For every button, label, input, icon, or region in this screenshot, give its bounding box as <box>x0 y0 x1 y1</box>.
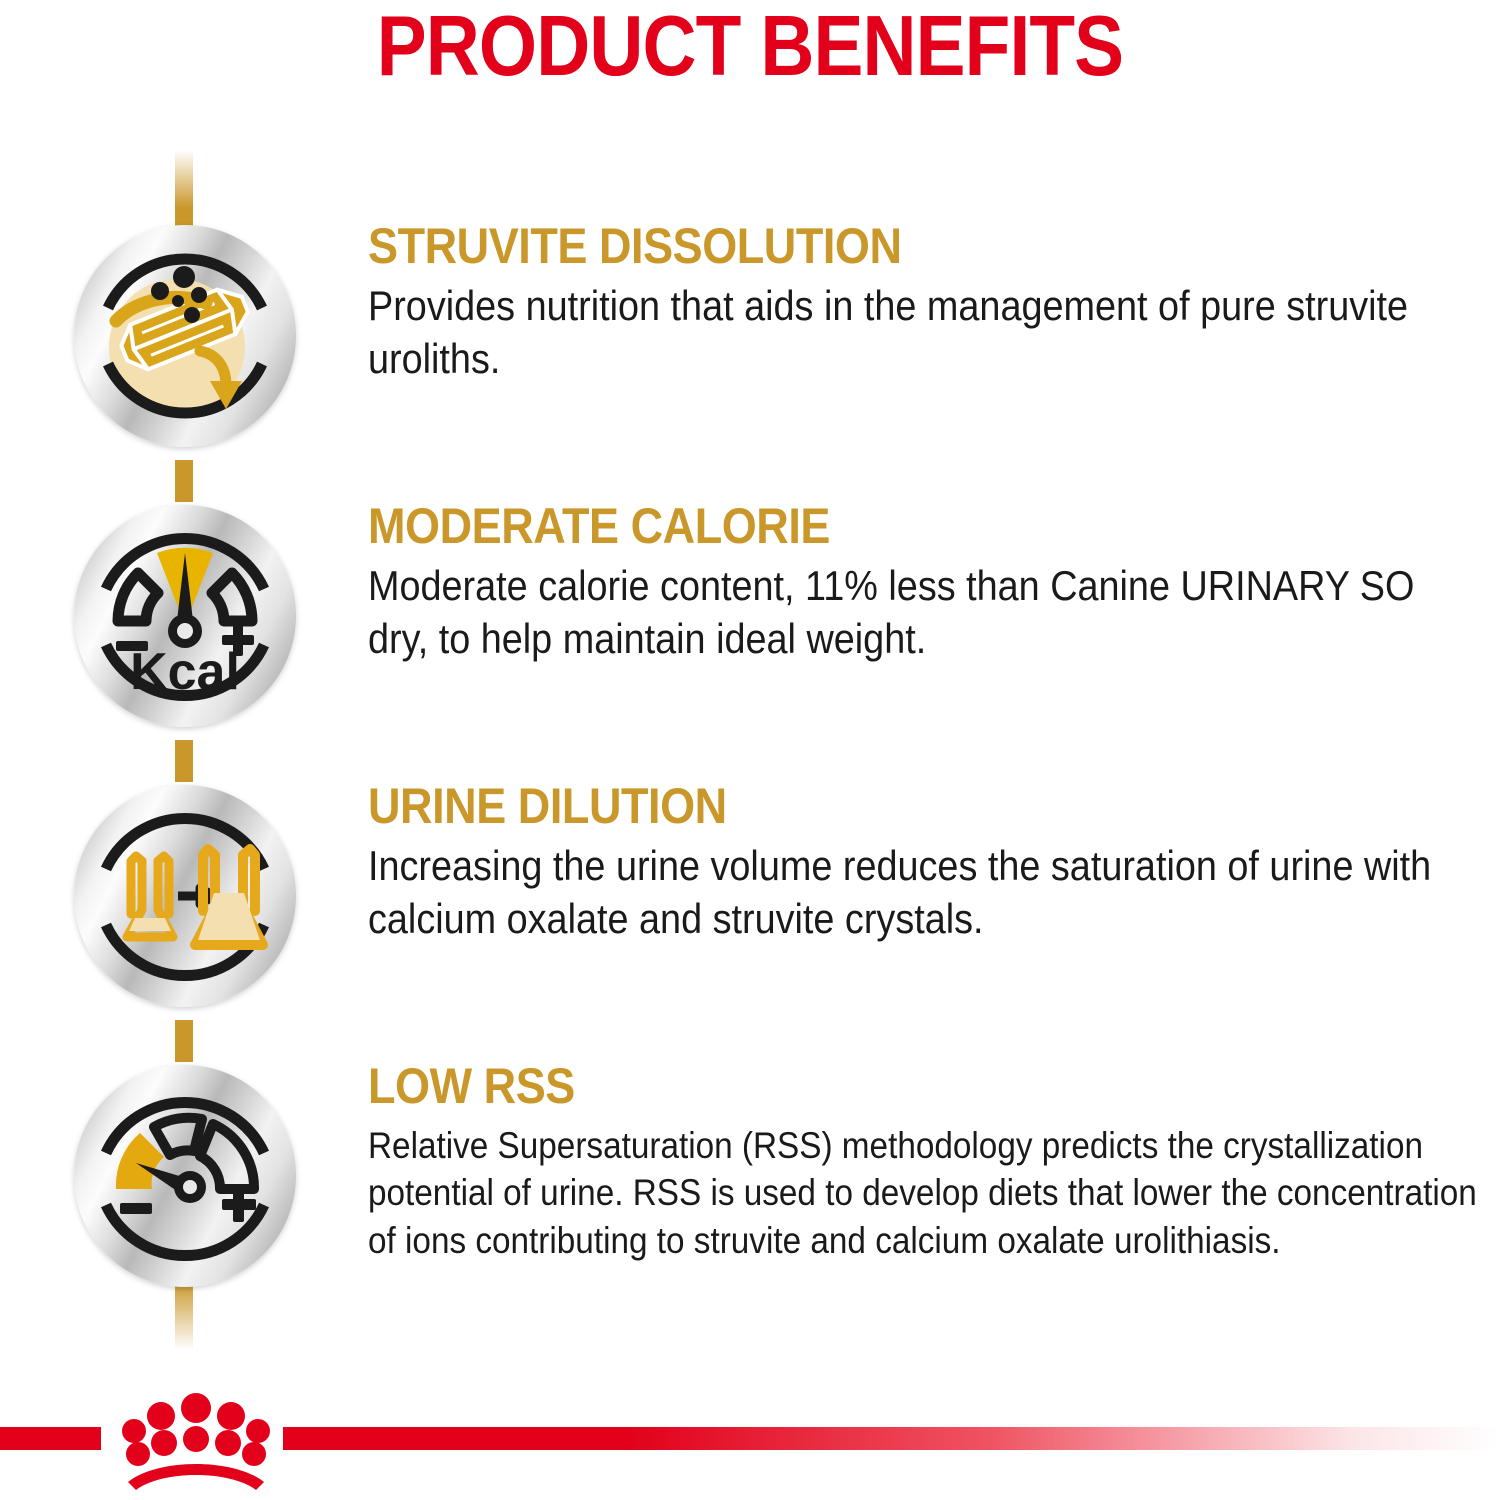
benefit-title: MODERATE CALORIE <box>368 500 1376 552</box>
benefit-body: Provides nutrition that aids in the mana… <box>368 280 1484 386</box>
benefit-item-struvite-dissolution: STRUVITE DISSOLUTION Provides nutrition … <box>0 220 1500 500</box>
struvite-dissolution-icon <box>74 225 296 447</box>
urine-dilution-flasks-icon <box>74 785 296 1007</box>
royal-canin-crown-logo <box>106 1386 286 1494</box>
low-rss-gauge-icon <box>74 1065 296 1287</box>
benefit-body: Relative Supersaturation (RSS) methodolo… <box>368 1122 1500 1264</box>
svg-text:Kcal: Kcal <box>130 643 240 701</box>
benefit-body: Increasing the urine volume reduces the … <box>368 840 1484 946</box>
footer-bar-right <box>283 1427 1500 1450</box>
benefit-item-low-rss: LOW RSS Relative Supersaturation (RSS) m… <box>0 1060 1500 1340</box>
benefits-list: STRUVITE DISSOLUTION Provides nutrition … <box>0 150 1500 1350</box>
benefit-text-struvite-dissolution: STRUVITE DISSOLUTION Provides nutrition … <box>368 220 1488 386</box>
benefit-text-moderate-calorie: MODERATE CALORIE Moderate calorie conten… <box>368 500 1488 666</box>
benefit-title: STRUVITE DISSOLUTION <box>368 220 1376 272</box>
benefit-item-moderate-calorie: Kcal MODERATE CALORIE Moderate calorie c… <box>0 500 1500 780</box>
benefit-body: Moderate calorie content, 11% less than … <box>368 560 1484 666</box>
benefit-title: URINE DILUTION <box>368 780 1376 832</box>
benefit-item-urine-dilution: URINE DILUTION Increasing the urine volu… <box>0 780 1500 1060</box>
benefit-text-urine-dilution: URINE DILUTION Increasing the urine volu… <box>368 780 1488 946</box>
page-title: PRODUCT BENEFITS <box>90 4 1410 89</box>
benefit-title: LOW RSS <box>368 1060 1376 1112</box>
connector-segment-top <box>175 150 193 228</box>
footer <box>0 1380 1500 1500</box>
footer-bar-left <box>0 1427 101 1450</box>
benefit-text-low-rss: LOW RSS Relative Supersaturation (RSS) m… <box>368 1060 1488 1264</box>
moderate-calorie-gauge-icon: Kcal <box>74 505 296 727</box>
